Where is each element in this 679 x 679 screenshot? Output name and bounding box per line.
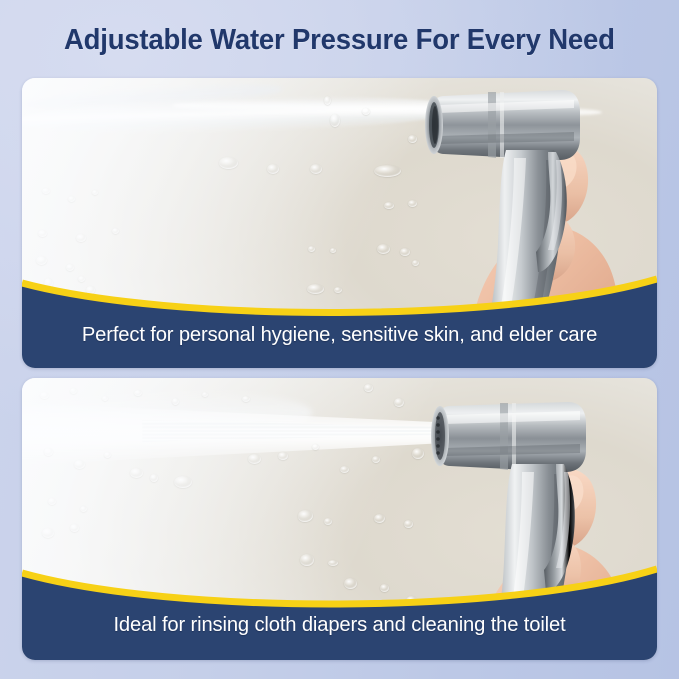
water-droplet bbox=[74, 460, 85, 469]
sprayer-head bbox=[425, 90, 580, 160]
feature-panel-high-pressure: Perfect for personal hygiene, sensitive … bbox=[22, 78, 657, 368]
water-droplet bbox=[310, 164, 322, 174]
water-droplet bbox=[394, 398, 404, 407]
infographic-page: Adjustable Water Pressure For Every Need bbox=[0, 0, 679, 679]
water-droplet bbox=[68, 196, 75, 202]
water-droplet bbox=[340, 466, 349, 473]
trigger-lever bbox=[536, 152, 567, 272]
water-droplet bbox=[92, 190, 98, 195]
water-droplet bbox=[48, 498, 56, 505]
page-title-container: Adjustable Water Pressure For Every Need bbox=[0, 24, 679, 57]
water-droplet bbox=[330, 114, 340, 127]
water-fan-spray-icon bbox=[22, 402, 472, 466]
water-droplet bbox=[130, 468, 143, 478]
water-droplet bbox=[104, 452, 111, 458]
water-droplet bbox=[134, 390, 142, 396]
caption-banner-1: Perfect for personal hygiene, sensitive … bbox=[22, 273, 657, 368]
water-droplet bbox=[112, 228, 119, 234]
water-droplet bbox=[172, 398, 179, 405]
water-droplet bbox=[150, 474, 158, 482]
water-droplet bbox=[400, 248, 410, 256]
water-jet-wisp-icon bbox=[22, 78, 282, 116]
page-title: Adjustable Water Pressure For Every Need bbox=[64, 24, 615, 57]
water-droplet bbox=[80, 506, 87, 512]
water-droplet bbox=[202, 392, 208, 397]
water-droplet bbox=[219, 157, 238, 169]
water-droplet bbox=[308, 246, 315, 252]
water-droplet bbox=[324, 96, 331, 105]
water-droplet bbox=[312, 444, 319, 450]
water-droplet bbox=[330, 248, 336, 253]
water-droplet bbox=[66, 264, 74, 271]
water-droplet bbox=[374, 165, 401, 177]
water-droplet bbox=[36, 256, 47, 265]
water-droplet bbox=[362, 108, 370, 115]
water-droplet bbox=[298, 510, 313, 522]
water-droplet bbox=[42, 188, 50, 194]
water-droplet bbox=[408, 200, 417, 207]
water-droplet bbox=[38, 230, 47, 237]
caption-text-2: Ideal for rinsing cloth diapers and clea… bbox=[27, 598, 652, 652]
water-jet-stream-icon bbox=[22, 92, 466, 139]
water-droplet bbox=[70, 388, 77, 394]
caption-text-1: Perfect for personal hygiene, sensitive … bbox=[27, 308, 652, 362]
water-droplet bbox=[102, 396, 108, 401]
water-droplet bbox=[364, 384, 373, 392]
water-droplet bbox=[372, 456, 380, 463]
water-droplet bbox=[408, 135, 417, 143]
nozzle-holes-icon bbox=[436, 416, 440, 455]
water-droplet bbox=[377, 244, 390, 254]
water-jet-thin-icon bbox=[172, 98, 602, 121]
water-droplet bbox=[70, 524, 79, 532]
sprayer-head-2 bbox=[431, 402, 586, 472]
feature-panel-wide-spray: Ideal for rinsing cloth diapers and clea… bbox=[22, 378, 657, 660]
water-droplet bbox=[404, 520, 413, 528]
water-droplet bbox=[174, 476, 192, 488]
water-droplet bbox=[267, 164, 279, 174]
water-droplet bbox=[242, 396, 250, 402]
caption-banner-2: Ideal for rinsing cloth diapers and clea… bbox=[22, 565, 657, 660]
water-droplet bbox=[76, 234, 86, 242]
water-droplet bbox=[248, 454, 261, 464]
water-droplet bbox=[40, 392, 49, 399]
water-droplet bbox=[324, 518, 332, 525]
water-droplet bbox=[374, 514, 385, 523]
water-droplet bbox=[412, 448, 424, 459]
water-droplet bbox=[278, 452, 288, 460]
water-spray-streaks-icon bbox=[142, 414, 472, 448]
water-droplet bbox=[384, 202, 394, 209]
water-droplet bbox=[412, 260, 419, 266]
water-spray-haze-icon bbox=[22, 387, 313, 449]
water-droplet bbox=[42, 528, 54, 538]
water-droplet bbox=[44, 448, 53, 456]
